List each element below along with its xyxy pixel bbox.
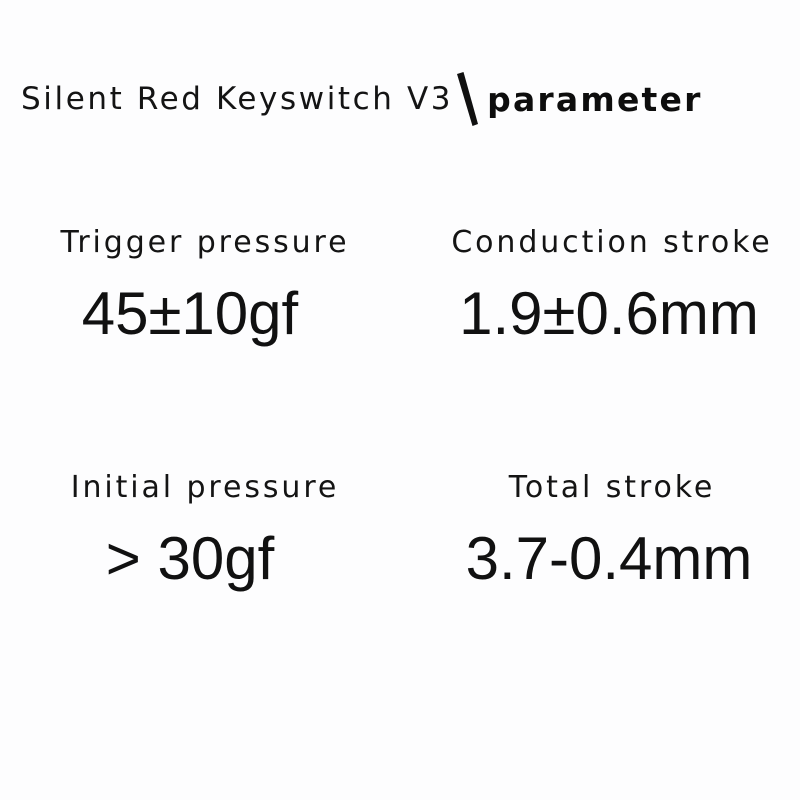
spec-value: 45±10gf xyxy=(82,284,298,344)
spec-cell-trigger-pressure: Trigger pressure 45±10gf xyxy=(0,228,400,473)
product-name-text: Silent Red Keyswitch V3 xyxy=(21,84,453,115)
backslash-divider-icon xyxy=(451,70,485,128)
page-title: Silent Red Keyswitch V3 parameter xyxy=(0,68,800,130)
spec-sheet: Silent Red Keyswitch V3 parameter Trigge… xyxy=(0,0,800,800)
spec-value: > 30gf xyxy=(106,529,275,589)
spec-label: Conduction stroke xyxy=(451,228,772,258)
spec-cell-conduction-stroke: Conduction stroke 1.9±0.6mm xyxy=(400,228,800,473)
spec-cell-total-stroke: Total stroke 3.7-0.4mm xyxy=(400,473,800,648)
section-title-text: parameter xyxy=(487,83,702,116)
spec-label: Initial pressure xyxy=(71,473,340,503)
spec-value: 1.9±0.6mm xyxy=(459,284,759,344)
spec-grid: Trigger pressure 45±10gf Conduction stro… xyxy=(0,228,800,648)
spec-label: Total stroke xyxy=(509,473,716,503)
spec-label: Trigger pressure xyxy=(61,228,350,258)
spec-value: 3.7-0.4mm xyxy=(466,529,753,589)
spec-cell-initial-pressure: Initial pressure > 30gf xyxy=(0,473,400,648)
